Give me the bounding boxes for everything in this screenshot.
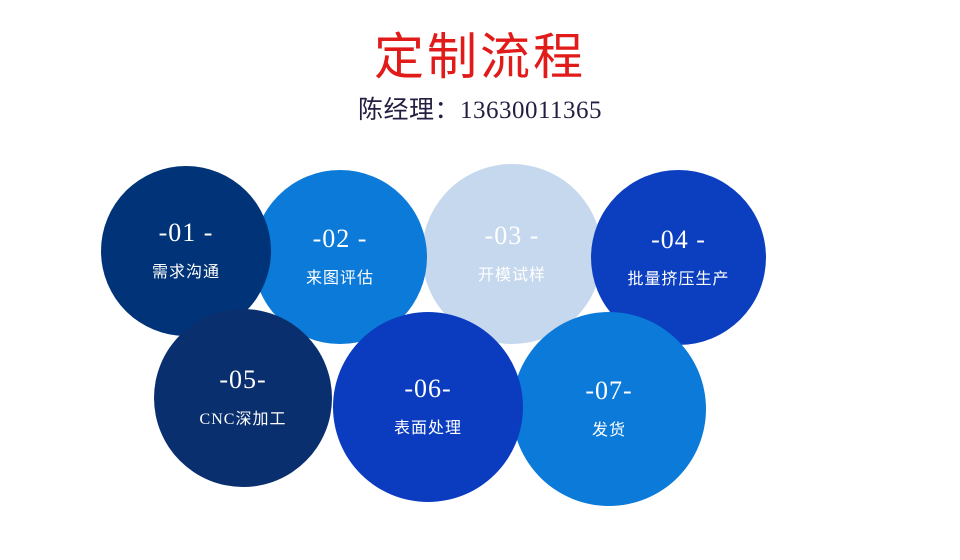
- flow-step-3-label: 开模试样: [478, 265, 546, 287]
- flow-step-1-number: -01 -: [159, 218, 214, 248]
- page-title: 定制流程: [0, 28, 960, 86]
- flow-step-6-label: 表面处理: [394, 418, 462, 440]
- contact-subtitle: 陈经理：13630011365: [0, 94, 960, 128]
- flow-step-7-number: -07-: [585, 376, 632, 406]
- flow-step-5-number: -05-: [219, 365, 266, 395]
- flow-step-5[interactable]: -05- CNC深加工: [154, 309, 332, 487]
- flow-step-4-number: -04 -: [651, 225, 706, 255]
- flow-step-6[interactable]: -06- 表面处理: [333, 312, 523, 502]
- flow-step-7[interactable]: -07- 发货: [512, 312, 706, 506]
- slide-header: 定制流程 陈经理：13630011365: [0, 0, 960, 128]
- flow-step-5-label: CNC深加工: [200, 409, 287, 431]
- flow-step-1-label: 需求沟通: [152, 262, 220, 284]
- flow-step-3-number: -03 -: [485, 221, 540, 251]
- flow-step-7-label: 发货: [592, 420, 626, 442]
- slide-canvas: 定制流程 陈经理：13630011365 -01 - 需求沟通 -02 - 来图…: [0, 0, 960, 560]
- flow-step-2-number: -02 -: [313, 224, 368, 254]
- flow-step-2-label: 来图评估: [306, 268, 374, 290]
- flow-step-6-number: -06-: [404, 374, 451, 404]
- flow-step-4-label: 批量挤压生产: [627, 269, 729, 291]
